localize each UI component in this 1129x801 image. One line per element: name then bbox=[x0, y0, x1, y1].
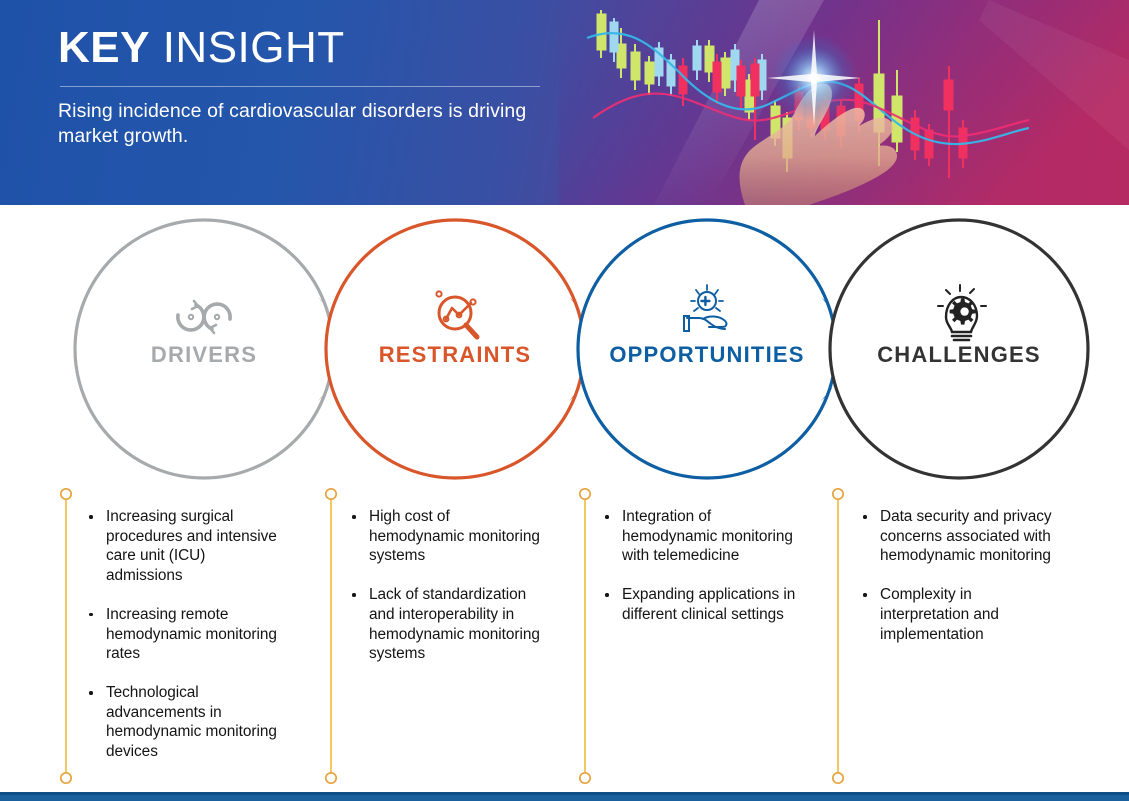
list-item: Expanding applications in different clin… bbox=[604, 585, 796, 624]
page-title-light: INSIGHT bbox=[150, 23, 345, 72]
list-item-text: Increasing remote hemodynamic monitoring… bbox=[106, 606, 277, 662]
header-banner: KEY INSIGHT Rising incidence of cardiova… bbox=[0, 0, 1129, 205]
column-divider-2 bbox=[324, 487, 338, 785]
key-insight-infographic: KEY INSIGHT Rising incidence of cardiova… bbox=[0, 0, 1129, 801]
bullet-column-challenges: Data security and privacy concerns assoc… bbox=[862, 507, 1058, 644]
list-item: Data security and privacy concerns assoc… bbox=[862, 507, 1058, 566]
list-item: Integration of hemodynamic monitoring wi… bbox=[604, 507, 796, 566]
column-divider-4 bbox=[831, 487, 845, 785]
list-item: Complexity in interpretation and impleme… bbox=[862, 585, 1058, 644]
title-divider-rule bbox=[60, 86, 540, 87]
list-item: High cost of hemodynamic monitoring syst… bbox=[351, 507, 543, 566]
bullet-dot-icon bbox=[863, 515, 867, 519]
stage-circle-drivers: DRIVERS bbox=[75, 220, 362, 478]
list-item-text: Expanding applications in different clin… bbox=[622, 586, 795, 623]
list-item: Lack of standardization and interoperabi… bbox=[351, 585, 543, 664]
bullet-list-restraints: High cost of hemodynamic monitoring syst… bbox=[351, 507, 543, 664]
bullet-column-opportunities: Integration of hemodynamic monitoring wi… bbox=[604, 507, 796, 625]
list-item-text: Complexity in interpretation and impleme… bbox=[880, 586, 999, 642]
footer-bar bbox=[0, 792, 1129, 801]
list-item-text: Increasing surgical procedures and inten… bbox=[106, 508, 277, 584]
bullet-columns: Increasing surgical procedures and inten… bbox=[0, 487, 1129, 787]
list-item-text: Data security and privacy concerns assoc… bbox=[880, 508, 1052, 564]
list-item-text: Technological advancements in hemodynami… bbox=[106, 684, 277, 760]
page-title-bold: KEY bbox=[58, 23, 150, 72]
stage-label-restraints: RESTRAINTS bbox=[379, 342, 532, 367]
bullet-column-drivers: Increasing surgical procedures and inten… bbox=[88, 507, 280, 762]
column-divider-3 bbox=[578, 487, 592, 785]
header-text-block: KEY INSIGHT Rising incidence of cardiova… bbox=[58, 24, 578, 150]
list-item-text: High cost of hemodynamic monitoring syst… bbox=[369, 508, 540, 564]
bullet-dot-icon bbox=[89, 691, 93, 695]
bullet-list-opportunities: Integration of hemodynamic monitoring wi… bbox=[604, 507, 796, 625]
stage-circle-row: DRIVERS RESTRAINTS bbox=[0, 205, 1129, 490]
bullet-dot-icon bbox=[863, 593, 867, 597]
bullet-column-restraints: High cost of hemodynamic monitoring syst… bbox=[351, 507, 543, 664]
list-item: Technological advancements in hemodynami… bbox=[88, 683, 280, 762]
bullet-dot-icon bbox=[352, 515, 356, 519]
stage-label-opportunities: OPPORTUNITIES bbox=[609, 342, 804, 367]
list-item-text: Lack of standardization and interoperabi… bbox=[369, 586, 540, 662]
list-item-text: Integration of hemodynamic monitoring wi… bbox=[622, 508, 793, 564]
footer-bar-accent bbox=[0, 792, 1129, 795]
stage-circle-opportunities: OPPORTUNITIES bbox=[578, 220, 865, 478]
bullet-list-drivers: Increasing surgical procedures and inten… bbox=[88, 507, 280, 762]
list-item: Increasing remote hemodynamic monitoring… bbox=[88, 605, 280, 664]
stage-label-challenges: CHALLENGES bbox=[877, 342, 1041, 367]
stage-circle-restraints: RESTRAINTS bbox=[326, 220, 613, 478]
bullet-dot-icon bbox=[352, 593, 356, 597]
stage-label-drivers: DRIVERS bbox=[151, 342, 257, 367]
bullet-list-challenges: Data security and privacy concerns assoc… bbox=[862, 507, 1058, 644]
page-subtitle: Rising incidence of cardiovascular disor… bbox=[58, 99, 533, 151]
bullet-dot-icon bbox=[89, 613, 93, 617]
stage-circle-challenges: CHALLENGES bbox=[830, 220, 1088, 478]
page-title: KEY INSIGHT bbox=[58, 24, 578, 72]
bullet-dot-icon bbox=[605, 593, 609, 597]
bullet-dot-icon bbox=[605, 515, 609, 519]
bullet-dot-icon bbox=[89, 515, 93, 519]
stock-chart-artwork bbox=[559, 0, 1129, 205]
list-item: Increasing surgical procedures and inten… bbox=[88, 507, 280, 586]
column-divider-1 bbox=[59, 487, 73, 785]
